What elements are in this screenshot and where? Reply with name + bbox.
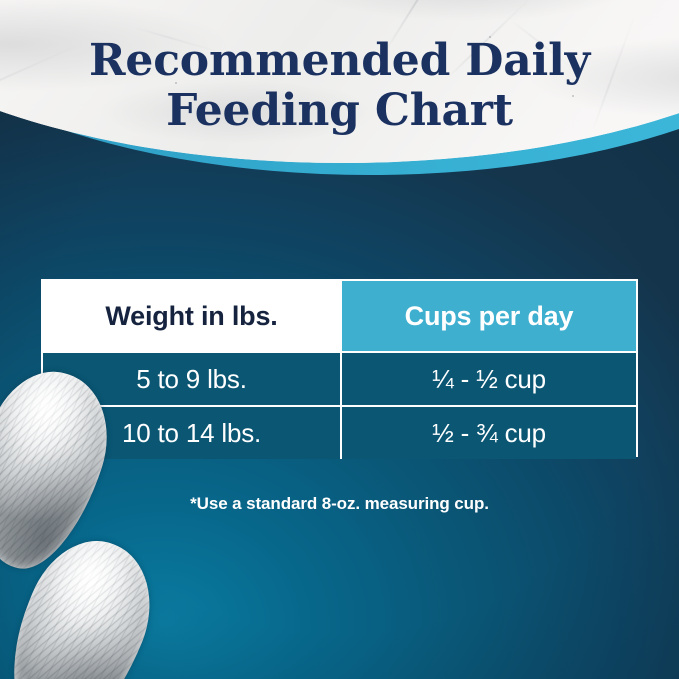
feeding-table: Weight in lbs. Cups per day 5 to 9 lbs. … bbox=[41, 279, 638, 457]
cell-weight: 5 to 9 lbs. bbox=[43, 353, 340, 405]
cell-cups: ½ - ¾ cup bbox=[340, 407, 636, 459]
table-row: 10 to 14 lbs. ½ - ¾ cup bbox=[43, 405, 636, 459]
header-banner bbox=[0, 0, 679, 200]
column-header-weight: Weight in lbs. bbox=[43, 281, 340, 351]
table-row: 5 to 9 lbs. ¼ - ½ cup bbox=[43, 351, 636, 405]
cell-weight: 10 to 14 lbs. bbox=[43, 407, 340, 459]
marble-texture bbox=[0, 0, 679, 163]
table-header-row: Weight in lbs. Cups per day bbox=[43, 281, 636, 351]
footnote-text: *Use a standard 8-oz. measuring cup. bbox=[0, 494, 679, 514]
marble-header-panel bbox=[0, 0, 679, 163]
cell-cups: ¼ - ½ cup bbox=[340, 353, 636, 405]
feeding-chart-graphic: Recommended Daily Feeding Chart Weight i… bbox=[0, 0, 679, 679]
marble-speck bbox=[489, 36, 491, 38]
column-header-cups: Cups per day bbox=[340, 281, 636, 351]
marble-speck bbox=[426, 70, 429, 73]
